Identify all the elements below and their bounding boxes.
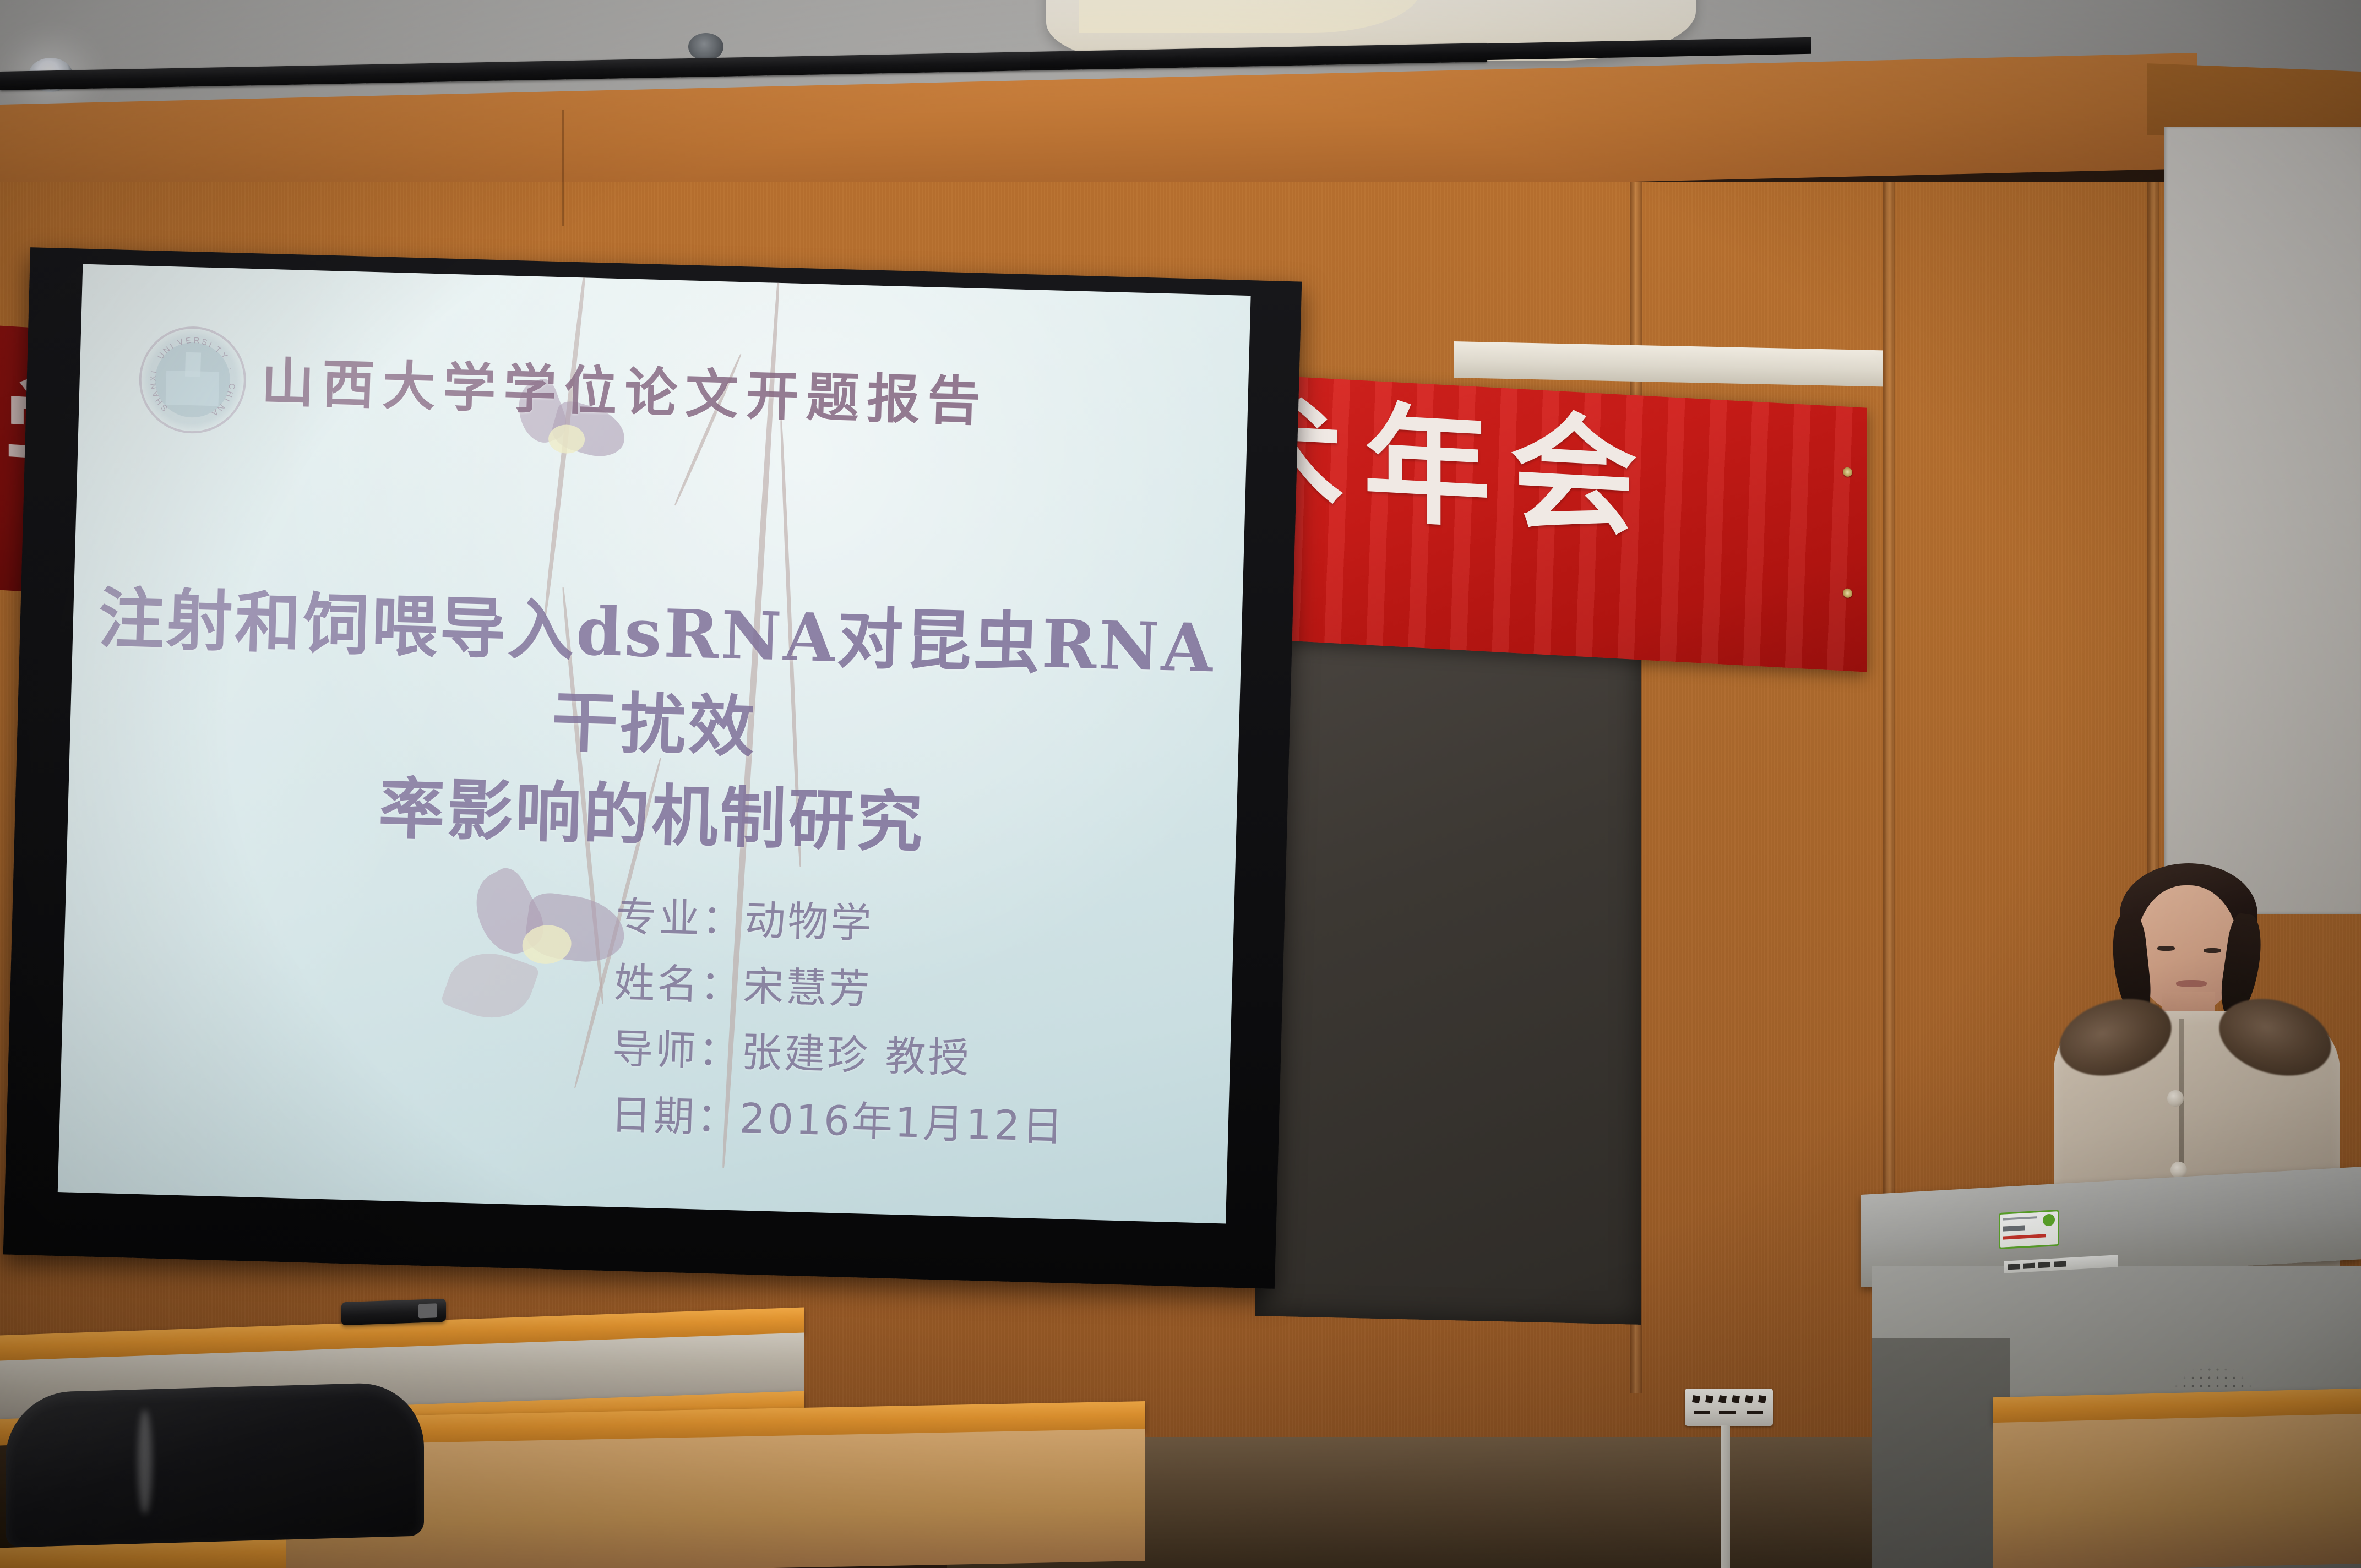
slide-meta-advisor: 导师：张建珍 教授 — [612, 1016, 1068, 1095]
coat-button — [2170, 1162, 2187, 1178]
slide-meta-date: 日期：2016年1月12日 — [610, 1082, 1066, 1161]
wall-power-outlet[interactable] — [1685, 1389, 1773, 1426]
slide-meta-major: 专业：动物学 — [615, 884, 1071, 962]
eye — [2157, 946, 2175, 951]
chair-highlight — [138, 1409, 152, 1514]
shanxi-university-seal-icon: SHANXI UNIVERSITY · CHINA — [138, 325, 247, 435]
scene-root: 术年会 科学 — [0, 0, 2361, 1568]
mouth — [2176, 980, 2207, 987]
banner-grommet — [1843, 588, 1852, 598]
slide-metadata-block: 专业：动物学 姓名：宋慧芳 导师：张建珍 教授 日期：2016年1月12日 — [610, 884, 1071, 1161]
blackboard — [1255, 589, 1641, 1325]
desk-row-right — [1993, 1389, 2361, 1568]
whiteboard-marker[interactable] — [341, 1299, 446, 1326]
wall-conduit — [1721, 1425, 1730, 1568]
ceiling-downlight-icon — [688, 33, 723, 61]
wall-panel-light — [2164, 127, 2361, 914]
seal-ring-text: SHANXI UNIVERSITY · CHINA — [140, 328, 245, 433]
coat-button — [2167, 1090, 2184, 1107]
banner-grommet — [1843, 467, 1852, 477]
red-banner-right: 术年会 — [1250, 374, 1867, 672]
slide-header: 山西大学学位论文开题报告 — [260, 340, 989, 436]
projection-screen: SHANXI UNIVERSITY · CHINA 山西大学学位论文开题报告 注… — [3, 247, 1302, 1289]
lecture-hall-chair[interactable] — [6, 1381, 424, 1547]
wall-seam — [562, 110, 564, 226]
slide-title: 注射和饲喂导入dsRNA对昆虫RNA干扰效 率影响的机制研究 — [89, 573, 1220, 877]
podium-side-panel — [1872, 1338, 2010, 1568]
slide-meta-name: 姓名：宋慧芳 — [613, 950, 1070, 1028]
slide-title-line-1: 注射和饲喂导入dsRNA对昆虫RNA干扰效 — [91, 573, 1219, 786]
equipment-inspection-sticker — [1999, 1210, 2059, 1249]
projected-slide: SHANXI UNIVERSITY · CHINA 山西大学学位论文开题报告 注… — [58, 264, 1251, 1224]
eye — [2204, 948, 2221, 953]
